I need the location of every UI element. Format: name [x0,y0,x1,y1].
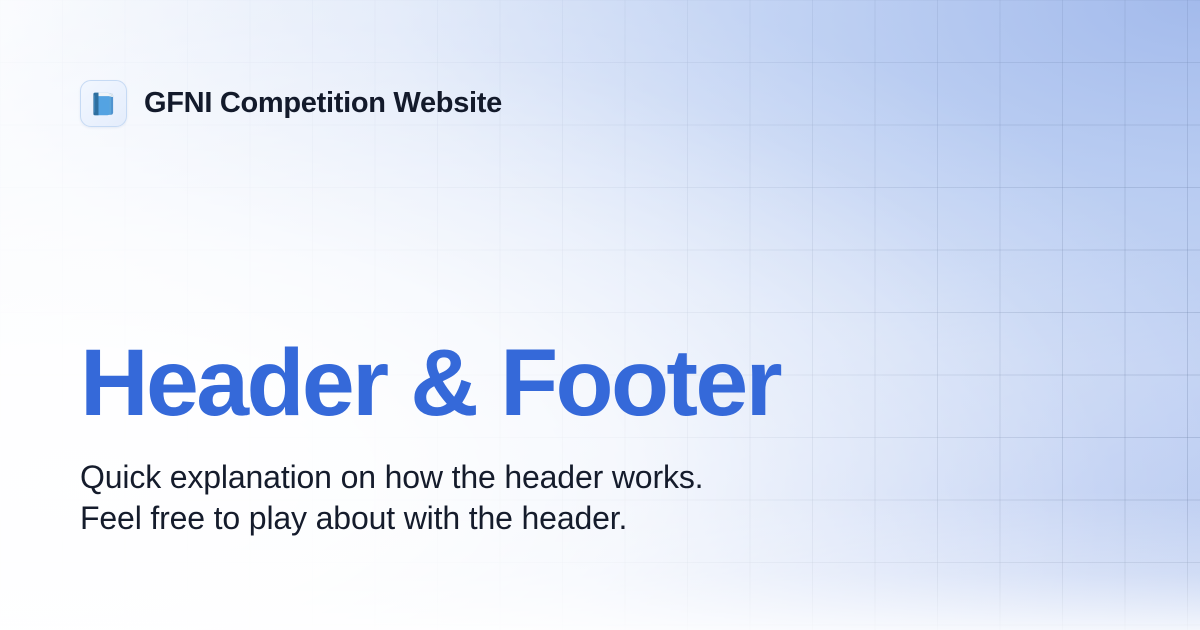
blue-book-icon [80,80,127,127]
banner-content: GFNI Competition Website Header & Footer… [0,0,1200,630]
page-title: Header & Footer [80,336,780,431]
brand-row: GFNI Competition Website [80,80,502,127]
banner-canvas: GFNI Competition Website Header & Footer… [0,0,1200,630]
hero-block: Header & Footer Quick explanation on how… [80,336,780,539]
page-subtitle: Quick explanation on how the header work… [80,457,780,539]
subtitle-line-2: Feel free to play about with the header. [80,498,780,539]
subtitle-line-1: Quick explanation on how the header work… [80,457,780,498]
brand-title: GFNI Competition Website [144,89,502,118]
